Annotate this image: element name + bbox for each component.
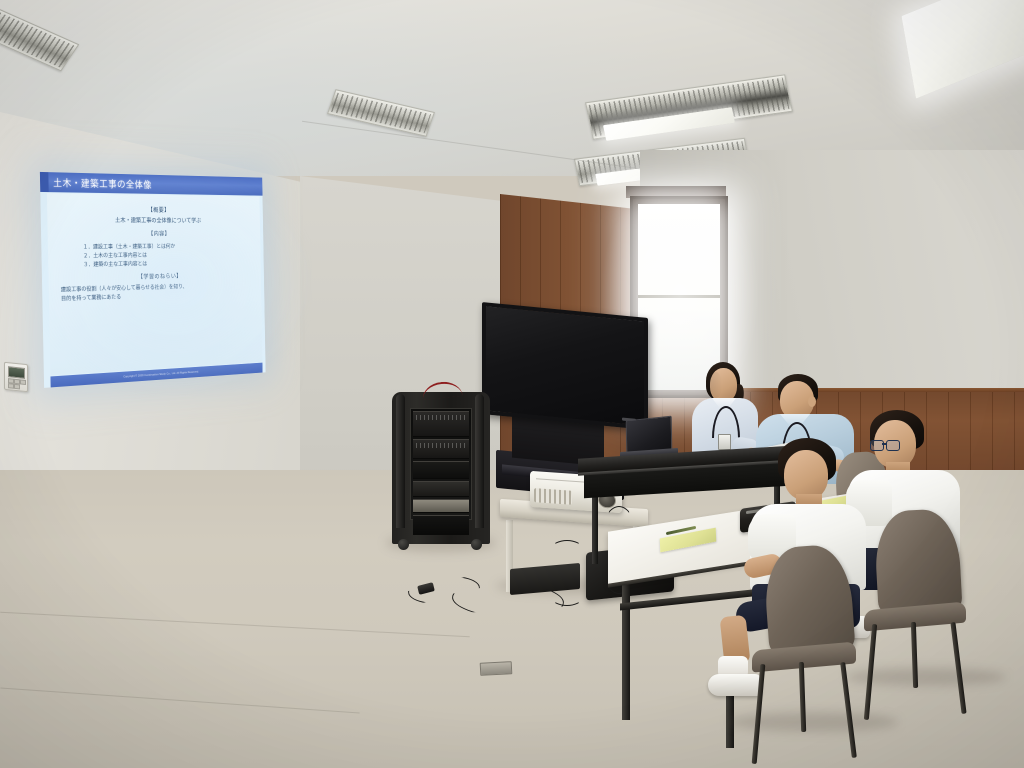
ac-panel-screen xyxy=(8,366,25,379)
ac-control-panel[interactable] xyxy=(4,362,28,393)
chair-leg xyxy=(799,662,806,732)
classroom-scene: 土木・建築工事の全体像 【概要】 土木・建築工事の全体像について学ぶ 【内容】 … xyxy=(0,0,1024,768)
face-shading xyxy=(710,372,722,398)
av-cart-handle-post[interactable] xyxy=(475,394,484,528)
floor-power-outlet[interactable] xyxy=(480,661,513,676)
av-rack-unit[interactable] xyxy=(413,499,469,513)
av-cart-bay xyxy=(410,408,472,520)
av-rack-unit[interactable] xyxy=(413,515,469,535)
caster-wheel-icon xyxy=(471,539,482,550)
av-rack-unit[interactable] xyxy=(413,481,469,497)
projector-vent-icon xyxy=(534,488,572,505)
slide-title: 土木・建築工事の全体像 xyxy=(40,175,152,191)
av-rack-unit[interactable] xyxy=(413,411,469,437)
chair-leg xyxy=(911,622,918,688)
table-leg xyxy=(622,570,630,720)
av-rack-unit[interactable] xyxy=(413,439,469,459)
chair-backrest xyxy=(762,543,855,657)
tv-panel[interactable] xyxy=(482,302,648,430)
caster-wheel-icon xyxy=(398,539,409,550)
lens xyxy=(886,440,900,451)
av-cart-handle-post[interactable] xyxy=(396,394,405,528)
student-chair-rear[interactable] xyxy=(856,510,984,690)
head xyxy=(784,450,828,500)
ac-panel-button[interactable] xyxy=(14,384,20,390)
lens xyxy=(870,440,884,451)
av-equipment-rack-cart[interactable] xyxy=(392,392,490,544)
slide-body: 【概要】 土木・建築工事の全体像について学ぶ 【内容】 １．建設工事（土木・建築… xyxy=(47,193,263,375)
id-badge xyxy=(718,434,731,450)
student-chair-front[interactable] xyxy=(742,546,872,736)
ac-panel-button[interactable] xyxy=(20,379,26,385)
av-rack-unit[interactable] xyxy=(413,461,469,479)
projected-slide: 土木・建築工事の全体像 【概要】 土木・建築工事の全体像について学ぶ 【内容】 … xyxy=(40,172,266,388)
ear xyxy=(808,396,816,407)
tv-screen xyxy=(486,306,644,425)
slide-overview-heading: 【概要】 xyxy=(53,206,255,216)
chair-backrest xyxy=(873,508,962,616)
slide-contents-list: １．建設工事（土木・建築工事）とは何か ２．土木の主な工事内容とは ３．建築の主… xyxy=(53,243,256,271)
eyeglasses-icon xyxy=(870,440,900,449)
slide-contents-heading: 【内容】 xyxy=(53,231,255,240)
slide-overview-text: 土木・建築工事の全体像について学ぶ xyxy=(53,217,255,226)
window-mullion xyxy=(638,295,720,298)
slide-contents-item: ３．建築の主な工事内容とは xyxy=(54,259,256,271)
